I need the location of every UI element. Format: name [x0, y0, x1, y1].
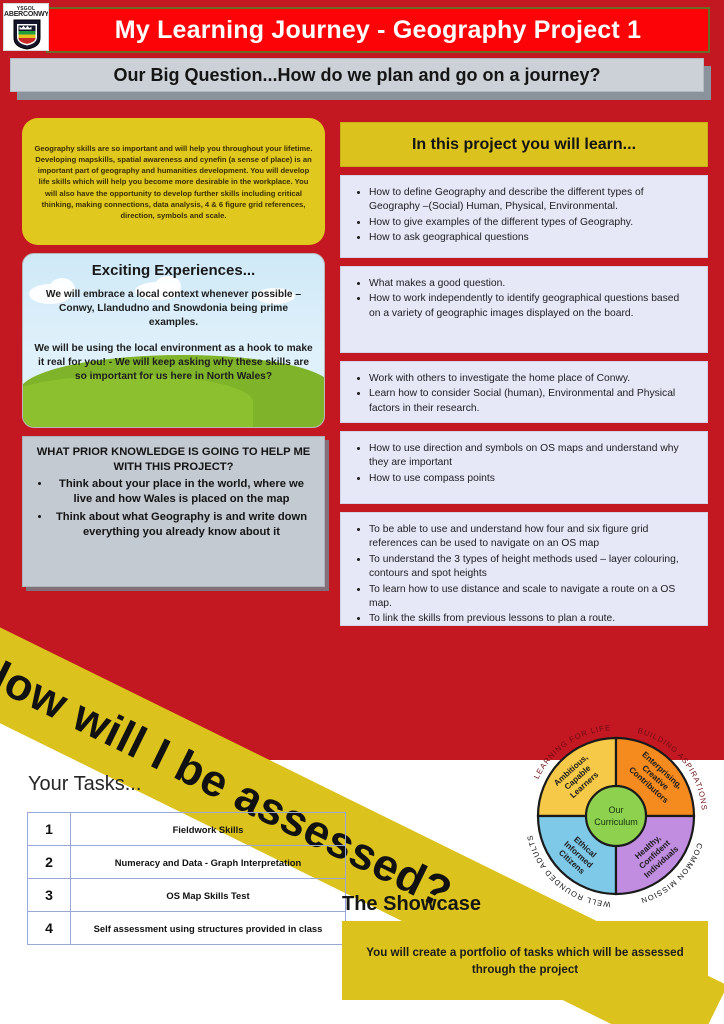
table-row: 3 OS Map Skills Test	[28, 879, 346, 912]
wheel-center-line1: Our	[608, 805, 623, 815]
learn-list-5: To be able to use and understand how fou…	[345, 523, 697, 627]
list-item: To understand the 3 types of height meth…	[369, 553, 691, 582]
prior-knowledge-list: Think about your place in the world, whe…	[35, 477, 312, 541]
school-logo-text: YSGOL ABERCONWY	[4, 6, 48, 18]
task-number: 2	[28, 846, 71, 879]
list-item: Learn how to consider Social (human), En…	[369, 387, 691, 416]
list-item: Think about what Geography is and write …	[51, 510, 312, 541]
list-item: How to define Geography and describe the…	[369, 186, 691, 215]
task-label: Self assessment using structures provide…	[71, 912, 346, 945]
school-crest-icon	[13, 18, 41, 50]
task-number: 4	[28, 912, 71, 945]
list-item: How to give examples of the different ty…	[369, 216, 691, 230]
big-question-bar: Our Big Question...How do we plan and go…	[10, 58, 704, 92]
curriculum-wheel-svg: Our Curriculum Ambitious, Capable Learne…	[516, 716, 716, 916]
learn-box-3: Work with others to investigate the home…	[340, 361, 708, 423]
task-label: OS Map Skills Test	[71, 879, 346, 912]
learn-box-5: To be able to use and understand how fou…	[340, 512, 708, 626]
learn-list-4: How to use direction and symbols on OS m…	[345, 442, 697, 486]
left-column: Geography skills are so important and wi…	[22, 118, 325, 587]
page-title: My Learning Journey - Geography Project …	[115, 16, 641, 45]
learn-heading-text: In this project you will learn...	[412, 136, 636, 154]
list-item: What makes a good question.	[369, 277, 691, 291]
tasks-title: Your Tasks...	[28, 773, 141, 796]
prior-knowledge-heading: WHAT PRIOR KNOWLEDGE IS GOING TO HELP ME…	[35, 445, 312, 475]
task-number: 3	[28, 879, 71, 912]
exciting-experiences-title: Exciting Experiences...	[33, 262, 314, 279]
big-question-text: Our Big Question...How do we plan and go…	[113, 65, 600, 86]
learn-box-4: How to use direction and symbols on OS m…	[340, 431, 708, 504]
exciting-experiences-paragraph-1: We will embrace a local context whenever…	[33, 288, 314, 330]
learn-box-2: What makes a good question. How to work …	[340, 266, 708, 353]
list-item: How to ask geographical questions	[369, 231, 691, 245]
exciting-experiences-content: Exciting Experiences... We will embrace …	[23, 254, 324, 427]
list-item: To link the skills from previous lessons…	[369, 612, 691, 626]
task-number: 1	[28, 813, 71, 846]
list-item: To be able to use and understand how fou…	[369, 523, 691, 552]
table-row: 4 Self assessment using structures provi…	[28, 912, 346, 945]
wheel-center-circle	[586, 786, 646, 846]
curriculum-wheel: Our Curriculum Ambitious, Capable Learne…	[516, 716, 716, 916]
table-row: 1 Fieldwork Skills	[28, 813, 346, 846]
list-item: To learn how to use distance and scale t…	[369, 583, 691, 612]
exciting-experiences-box: Exciting Experiences... We will embrace …	[22, 253, 325, 428]
school-logo: YSGOL ABERCONWY	[3, 3, 49, 51]
poster-root: My Learning Journey - Geography Project …	[0, 0, 724, 1024]
why-geography-text: Geography skills are so important and wi…	[34, 143, 313, 221]
prior-knowledge-box: WHAT PRIOR KNOWLEDGE IS GOING TO HELP ME…	[22, 436, 325, 587]
learn-list-1: How to define Geography and describe the…	[345, 186, 697, 246]
task-label: Numeracy and Data - Graph Interpretation	[71, 846, 346, 879]
list-item: How to work independently to identify ge…	[369, 292, 691, 321]
learn-heading-bar: In this project you will learn...	[340, 122, 708, 167]
list-item: Work with others to investigate the home…	[369, 372, 691, 386]
showcase-text: You will create a portfolio of tasks whi…	[364, 944, 686, 978]
right-column: In this project you will learn... How to…	[340, 122, 708, 626]
showcase-title: The Showcase	[342, 893, 481, 916]
table-row: 2 Numeracy and Data - Graph Interpretati…	[28, 846, 346, 879]
learn-box-1: How to define Geography and describe the…	[340, 175, 708, 258]
list-item: How to use compass points	[369, 472, 691, 486]
poster-title-bar: My Learning Journey - Geography Project …	[46, 7, 710, 53]
learn-list-2: What makes a good question. How to work …	[345, 277, 697, 321]
tasks-table-body: 1 Fieldwork Skills 2 Numeracy and Data -…	[28, 813, 346, 945]
learn-list-3: Work with others to investigate the home…	[345, 372, 697, 416]
task-label: Fieldwork Skills	[71, 813, 346, 846]
tasks-table: 1 Fieldwork Skills 2 Numeracy and Data -…	[27, 812, 346, 945]
wheel-center-line2: Curriculum	[594, 817, 638, 827]
list-item: How to use direction and symbols on OS m…	[369, 442, 691, 471]
why-geography-box: Geography skills are so important and wi…	[22, 118, 325, 245]
list-item: Think about your place in the world, whe…	[51, 477, 312, 508]
showcase-box: You will create a portfolio of tasks whi…	[342, 921, 708, 1000]
exciting-experiences-paragraph-2: We will be using the local environment a…	[33, 342, 314, 384]
